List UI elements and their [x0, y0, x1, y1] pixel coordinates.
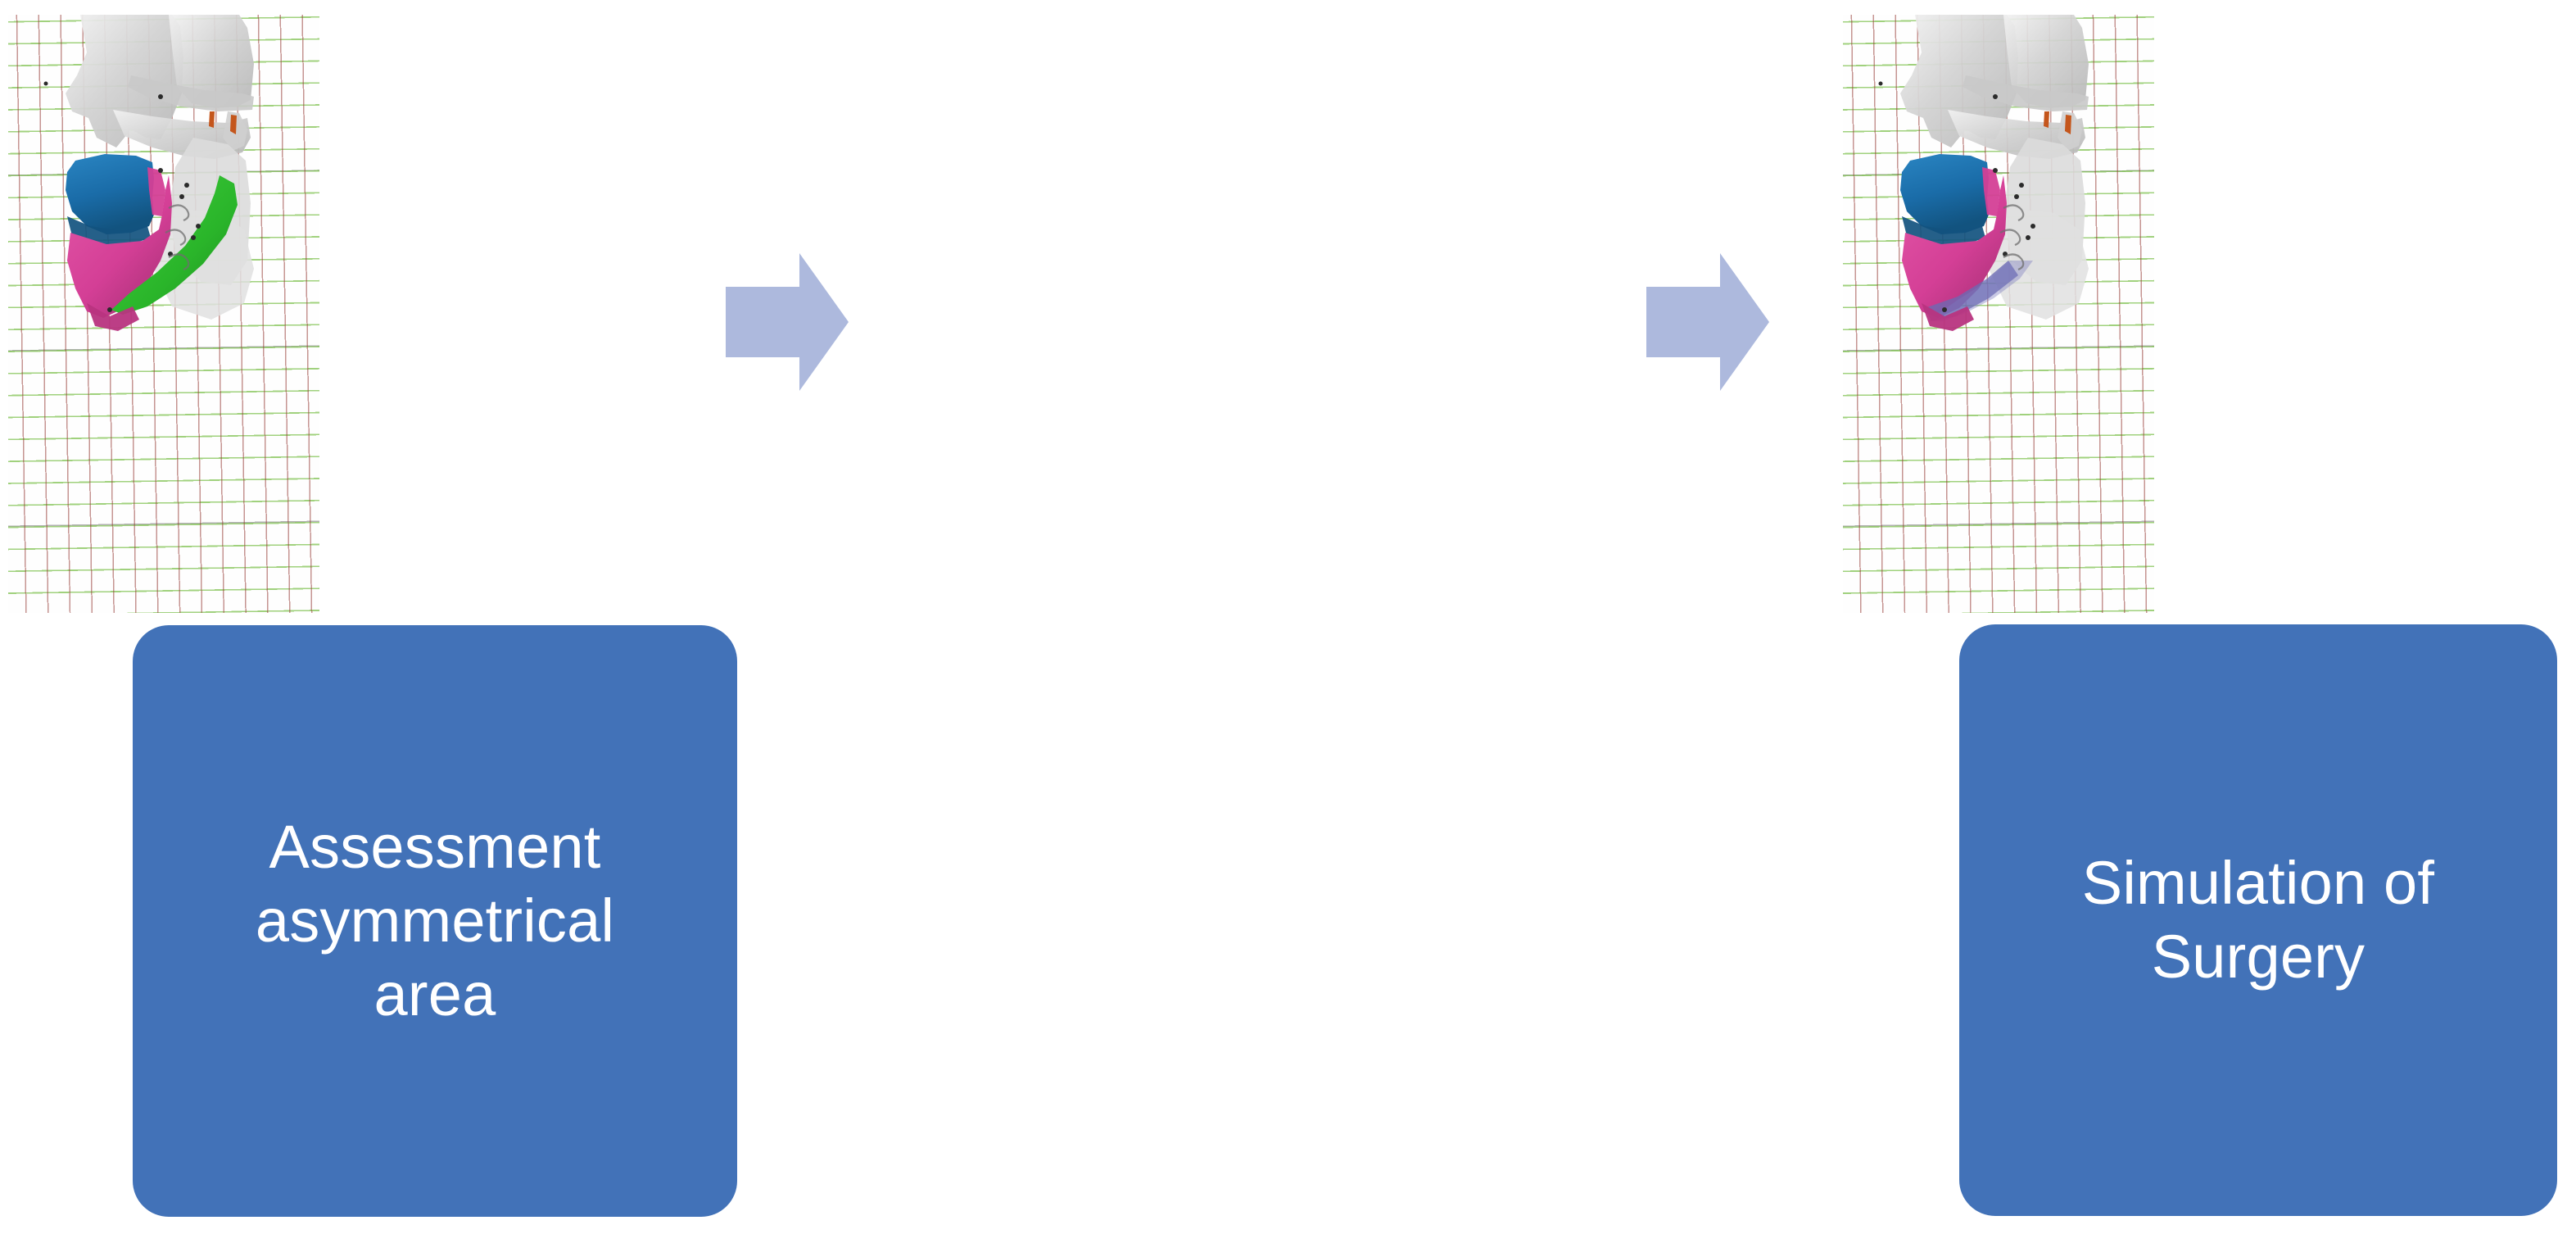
- step-label-assessment[interactable]: Assessment asymmetrical area: [133, 625, 737, 1217]
- ct-scan-image-step-1: [8, 15, 319, 613]
- arrow-right-icon-2: [1646, 248, 1769, 396]
- workflow-step-1: Assessment asymmetrical area: [0, 0, 745, 1234]
- skull-reconstruction-graphic: [8, 15, 319, 613]
- workflow-diagram: Assessment asymmetrical area: [0, 0, 2576, 1234]
- step-label-text: Assessment asymmetrical area: [256, 810, 614, 1032]
- workflow-step-3: 3D model and Surgical guide: [1835, 0, 2576, 1234]
- arrow-right-icon-1: [726, 248, 849, 396]
- workflow-step-2: Simulation of Surgery: [917, 0, 1663, 1234]
